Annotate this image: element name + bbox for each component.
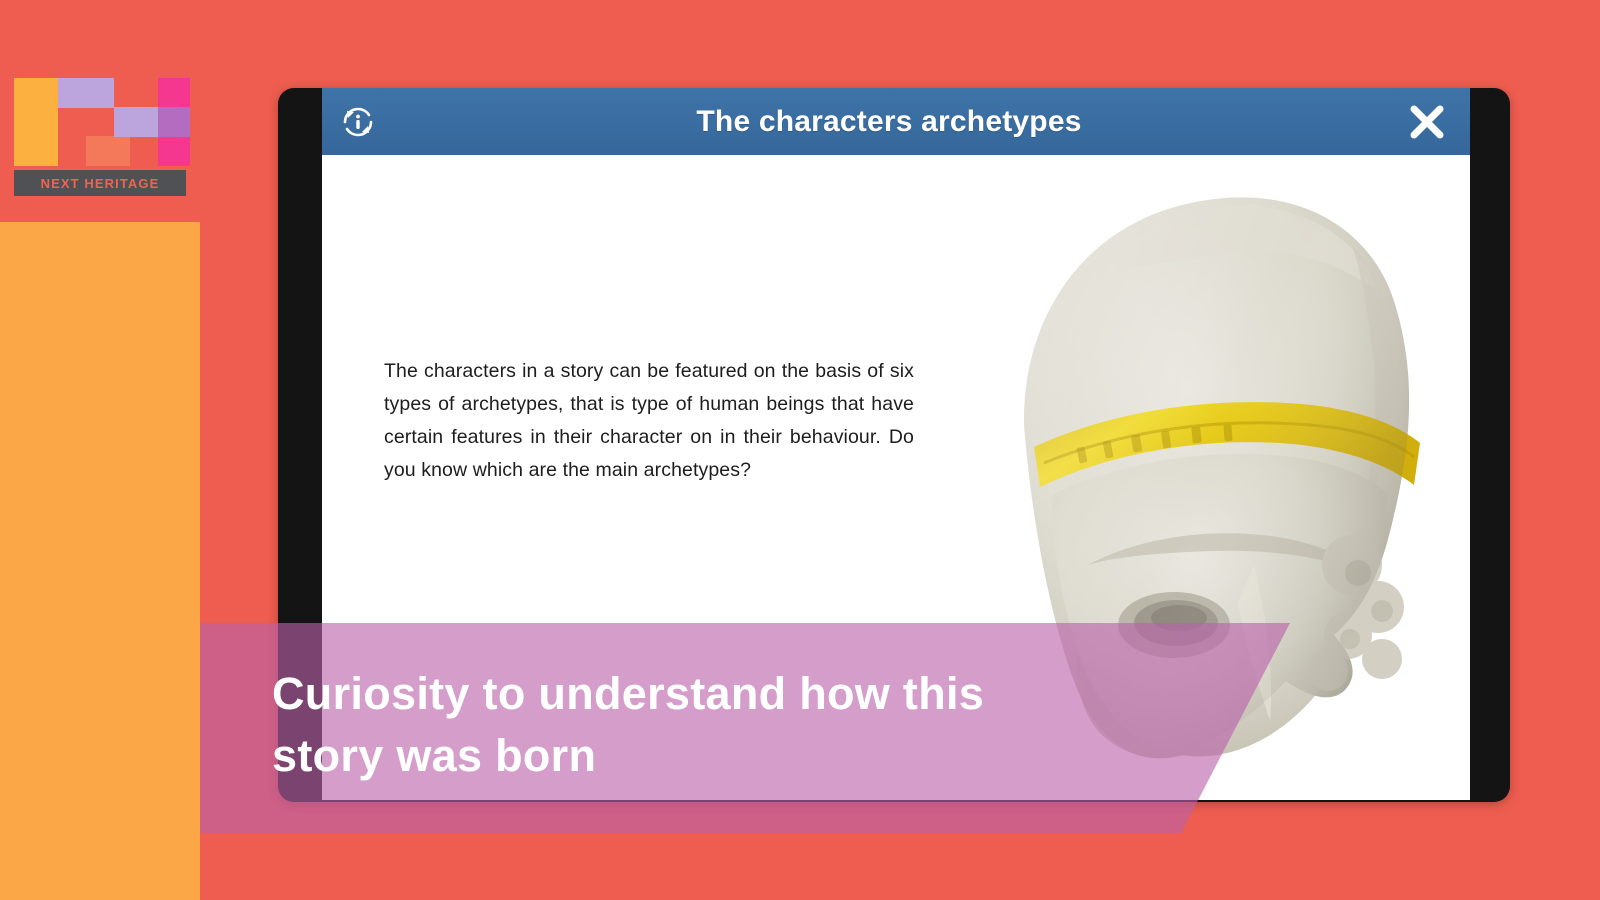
info-rotate-icon[interactable] <box>336 100 380 144</box>
logo-tile <box>58 78 114 108</box>
brand-name-label: NEXT HERITAGE <box>41 176 160 191</box>
brand-name-badge: NEXT HERITAGE <box>14 170 186 196</box>
orange-accent-block <box>0 222 200 900</box>
logo-tile <box>14 108 58 166</box>
archetypes-description-text: The characters in a story can be feature… <box>384 355 914 487</box>
caption-banner: Curiosity to understand how this story w… <box>200 623 1290 833</box>
app-title: The characters archetypes <box>380 105 1398 139</box>
brand-logo-block: NEXT HERITAGE <box>14 78 190 196</box>
close-icon[interactable] <box>1398 93 1456 151</box>
caption-line-1: Curiosity to understand how this <box>272 663 1142 725</box>
logo-tile <box>114 107 158 137</box>
app-header-bar: The characters archetypes <box>322 88 1470 155</box>
logo-tile <box>14 78 58 108</box>
logo-tile <box>158 78 190 107</box>
logo-tile <box>158 137 190 166</box>
logo-tile <box>158 107 190 137</box>
logo-tile <box>86 136 130 166</box>
next-heritage-logo <box>14 78 190 166</box>
caption-text-block: Curiosity to understand how this story w… <box>272 663 1142 787</box>
caption-line-2: story was born <box>272 725 1142 787</box>
